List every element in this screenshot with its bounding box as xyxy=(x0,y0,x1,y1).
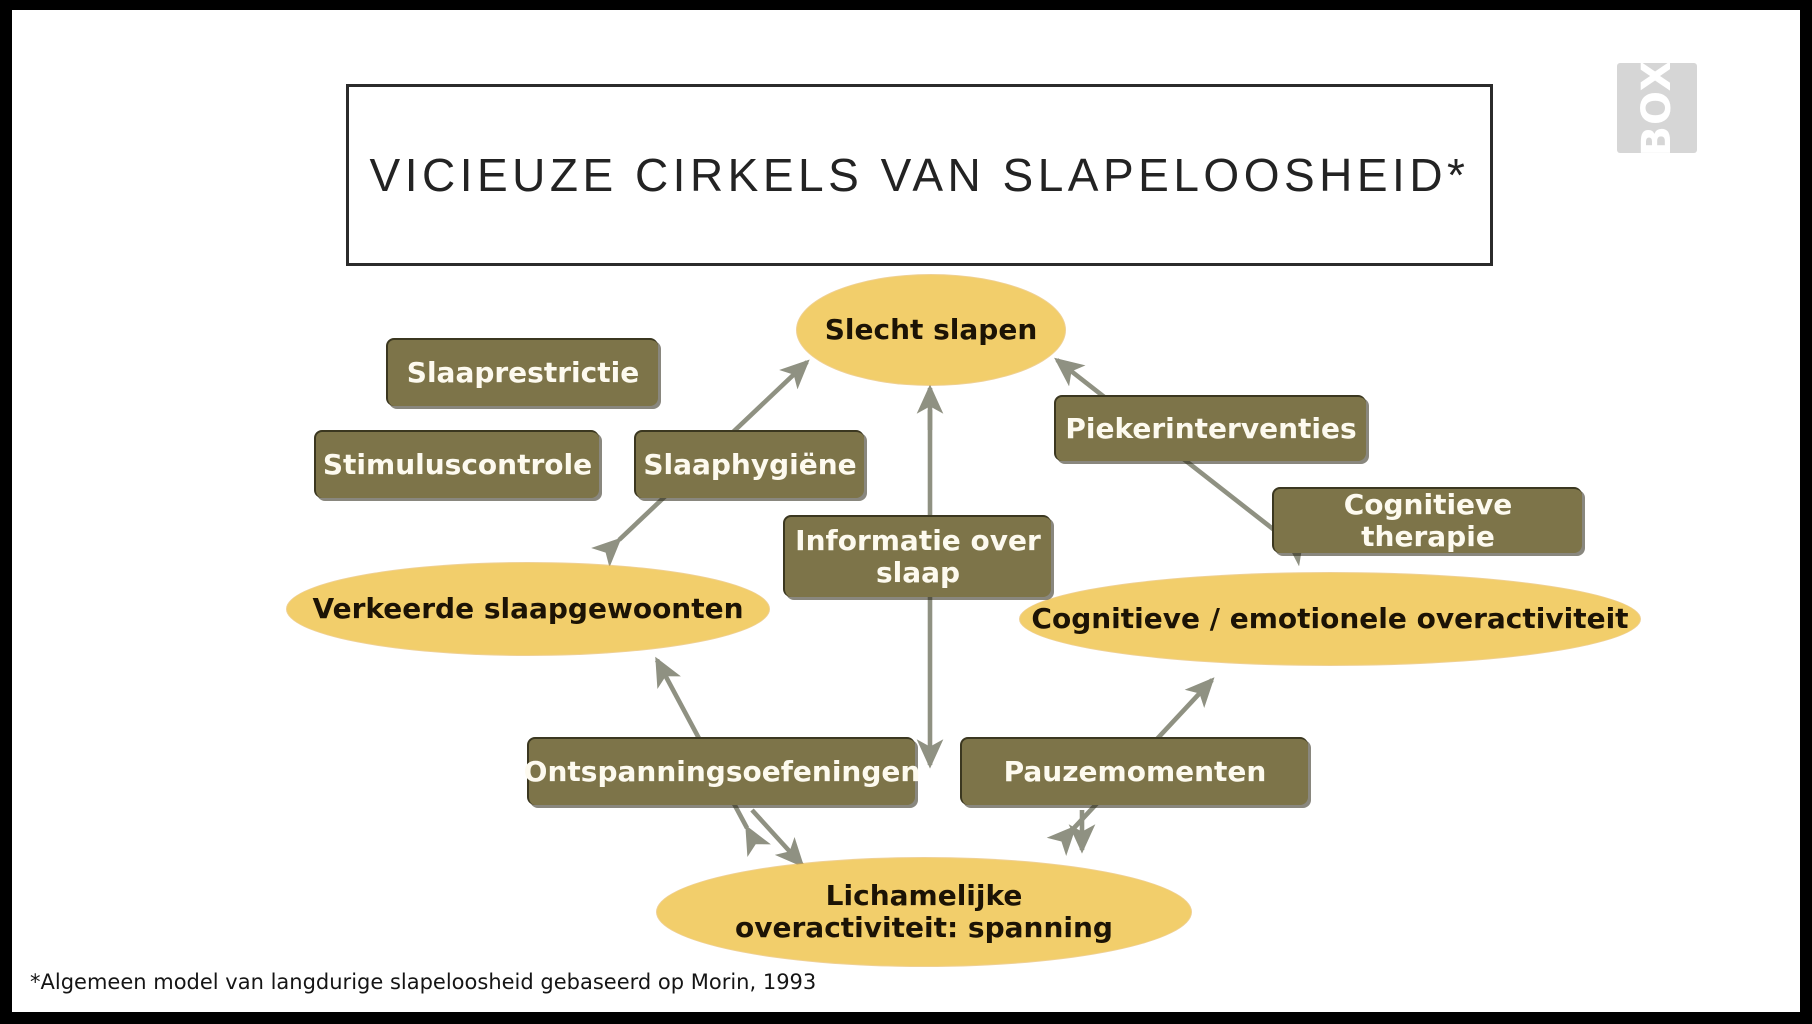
node-label-line2: overactiviteit: spanning xyxy=(735,912,1113,944)
node-ontspanningsoefeningen[interactable]: Ontspanningsoefeningen xyxy=(527,737,915,805)
node-lichamelijke-overactiviteit[interactable]: Lichamelijke overactiviteit: spanning xyxy=(657,858,1191,966)
node-label: Slaaprestrictie xyxy=(407,357,639,389)
node-label-line2: slaap xyxy=(876,557,960,589)
node-informatie-over-slaap[interactable]: Informatie over slaap xyxy=(783,515,1051,597)
page-title: VICIEUZE CIRKELS VAN SLAPELOOSHEID* xyxy=(349,87,1490,263)
node-slaaphygiene[interactable]: Slaaphygiëne xyxy=(634,430,864,498)
letterbox-frame: VICIEUZE CIRKELS VAN SLAPELOOSHEID* BOX xyxy=(0,0,1812,1024)
node-label: Stimuluscontrole xyxy=(323,449,592,481)
node-pauzemomenten[interactable]: Pauzemomenten xyxy=(960,737,1308,805)
node-label: Pauzemomenten xyxy=(1004,756,1267,788)
node-label: Piekerinterventies xyxy=(1065,413,1356,445)
node-label: Cognitieve / emotionele overactiviteit xyxy=(1031,603,1628,635)
node-piekerinterventies[interactable]: Piekerinterventies xyxy=(1054,395,1366,461)
node-label-line1: Lichamelijke xyxy=(826,880,1023,912)
node-cognitieve-emotionele-overactiviteit[interactable]: Cognitieve / emotionele overactiviteit xyxy=(1020,573,1640,665)
box-logo-watermark: BOX xyxy=(1617,63,1697,153)
node-label: Ontspanningsoefeningen xyxy=(524,756,921,788)
node-stimuluscontrole[interactable]: Stimuluscontrole xyxy=(314,430,599,498)
node-slecht-slapen[interactable]: Slecht slapen xyxy=(797,275,1065,385)
title-box: VICIEUZE CIRKELS VAN SLAPELOOSHEID* xyxy=(346,84,1493,266)
node-label-line1: Informatie over xyxy=(795,525,1041,557)
node-label: Cognitieve therapie xyxy=(1284,489,1572,553)
box-logo-text: BOX xyxy=(1612,68,1702,148)
node-label: Slecht slapen xyxy=(825,314,1038,346)
slide-canvas: VICIEUZE CIRKELS VAN SLAPELOOSHEID* BOX xyxy=(12,10,1800,1012)
node-label: Slaaphygiëne xyxy=(643,449,856,481)
node-label: Verkeerde slaapgewoonten xyxy=(312,593,743,625)
arrow-ontspanning-to-lichamelijke xyxy=(752,810,802,865)
node-verkeerde-slaapgewoonten[interactable]: Verkeerde slaapgewoonten xyxy=(287,563,769,655)
node-slaaprestrictie[interactable]: Slaaprestrictie xyxy=(386,338,658,406)
node-cognitieve-therapie[interactable]: Cognitieve therapie xyxy=(1272,487,1582,553)
footnote: *Algemeen model van langdurige slapeloos… xyxy=(30,970,816,994)
